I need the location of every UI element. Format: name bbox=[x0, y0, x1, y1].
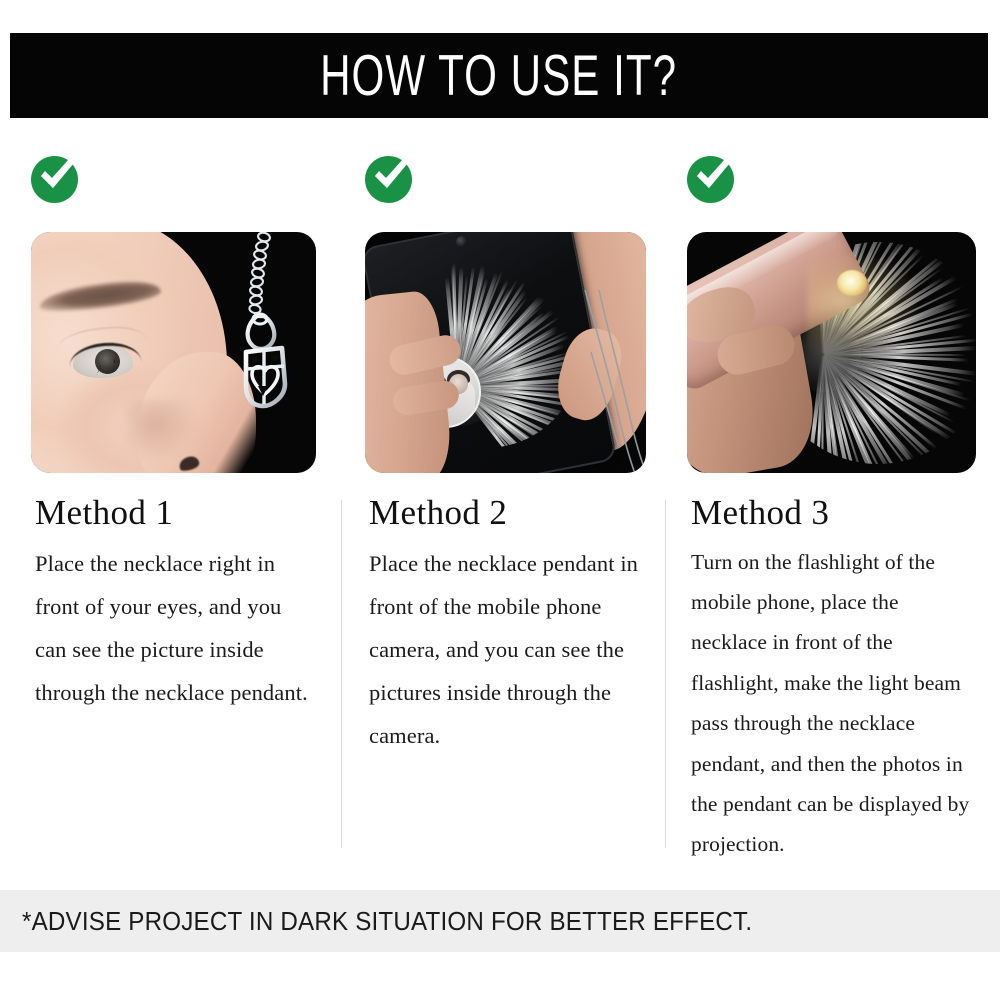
column-divider bbox=[665, 500, 666, 848]
column-divider bbox=[341, 500, 342, 848]
method-3-body: Turn on the flashlight of the mobile pho… bbox=[691, 542, 976, 865]
phone-camera-icon bbox=[455, 235, 468, 248]
method-column-1: Method 1 Place the necklace right in fro… bbox=[0, 150, 341, 890]
flashlight-glow bbox=[807, 254, 917, 354]
method-2-body: Place the necklace pendant in front of t… bbox=[369, 542, 643, 758]
eye bbox=[73, 344, 133, 378]
method-2-image bbox=[365, 232, 646, 473]
method-column-3: Method 3 Turn on the flashlight of the m… bbox=[665, 150, 1000, 890]
check-icon bbox=[31, 150, 87, 206]
footer-note: *ADVISE PROJECT IN DARK SITUATION FOR BE… bbox=[22, 906, 752, 937]
necklace-strap bbox=[579, 290, 646, 473]
method-1-body: Place the necklace right in front of you… bbox=[35, 542, 317, 715]
header-banner: HOW TO USE IT? bbox=[10, 33, 988, 118]
cheek-shadow bbox=[127, 400, 197, 460]
page-title: HOW TO USE IT? bbox=[320, 42, 677, 108]
method-column-2: Method 2 Place the necklace pendant in f… bbox=[341, 150, 665, 890]
method-3-title: Method 3 bbox=[691, 494, 976, 533]
flashlight-icon bbox=[837, 270, 867, 296]
methods-row: Method 1 Place the necklace right in fro… bbox=[0, 150, 1000, 890]
footer-note-band: *ADVISE PROJECT IN DARK SITUATION FOR BE… bbox=[0, 890, 1000, 952]
method-3-image bbox=[687, 232, 976, 473]
check-icon bbox=[365, 150, 421, 206]
check-icon bbox=[687, 150, 743, 206]
method-2-title: Method 2 bbox=[369, 494, 643, 533]
method-1-title: Method 1 bbox=[35, 494, 317, 533]
necklace-pendant bbox=[227, 312, 299, 422]
necklace-chain bbox=[234, 232, 280, 324]
method-1-image bbox=[31, 232, 316, 473]
